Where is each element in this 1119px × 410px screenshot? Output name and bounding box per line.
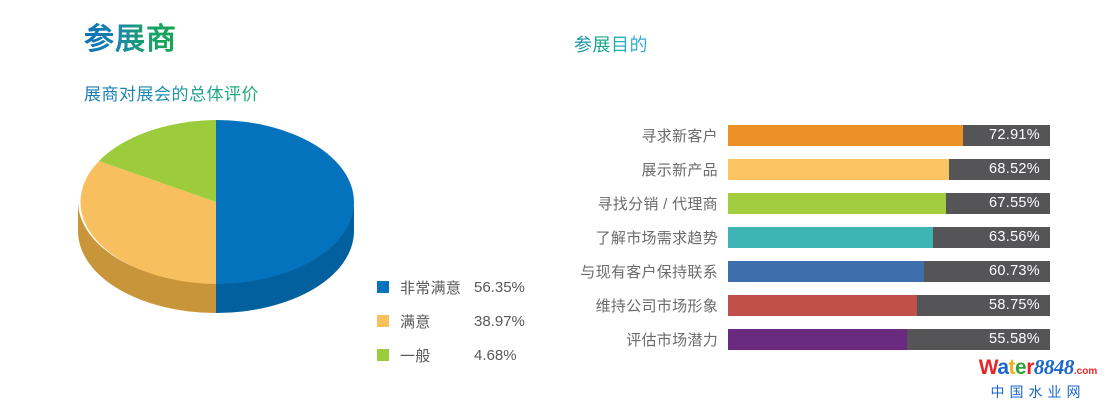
bar-track: 72.91% xyxy=(728,125,1050,146)
bar-track: 55.58% xyxy=(728,329,1050,350)
bar-row: 寻求新客户 72.91% xyxy=(560,118,1050,152)
next-section-title: 参观者 xyxy=(84,402,177,410)
bar-chart-title: 参展目的 xyxy=(574,31,648,57)
wm-letter: e xyxy=(1015,356,1026,379)
pie-chart xyxy=(72,120,372,335)
report-page: 参展商 展商对展会的总体评价 xyxy=(0,0,1119,410)
legend-swatch-icon xyxy=(377,349,389,361)
bar-fill xyxy=(728,125,963,146)
legend-swatch-icon xyxy=(377,315,389,327)
legend-label: 满意 xyxy=(400,311,474,332)
bar-value-label: 55.58% xyxy=(989,329,1040,350)
bar-track: 60.73% xyxy=(728,261,1050,282)
bar-category-label: 展示新产品 xyxy=(560,159,728,180)
pie-chart-title: 展商对展会的总体评价 xyxy=(84,80,259,105)
bar-track: 63.56% xyxy=(728,227,1050,248)
bar-fill xyxy=(728,329,907,350)
wm-letter: W xyxy=(979,356,998,379)
bar-value-label: 60.73% xyxy=(989,261,1040,282)
bar-category-label: 寻求新客户 xyxy=(560,125,728,146)
watermark-subtitle: 中国水业网 xyxy=(958,383,1118,402)
legend-label: 一般 xyxy=(400,345,474,366)
pie-chart-svg xyxy=(72,120,372,335)
legend-swatch-icon xyxy=(377,281,389,293)
pie-legend: 非常满意 56.35% 满意 38.97% 一般 4.68% xyxy=(377,270,557,372)
bar-value-label: 67.55% xyxy=(989,193,1040,214)
pie-top-face xyxy=(80,120,353,284)
bar-fill xyxy=(728,227,933,248)
legend-value: 4.68% xyxy=(474,347,517,364)
watermark-wordmark: Water8848.com xyxy=(958,356,1118,383)
bar-row: 了解市场需求趋势 63.56% xyxy=(560,220,1050,254)
bar-category-label: 了解市场需求趋势 xyxy=(560,227,728,248)
bar-value-label: 58.75% xyxy=(989,295,1040,316)
legend-value: 38.97% xyxy=(474,313,525,330)
bar-value-label: 72.91% xyxy=(989,125,1040,146)
bar-track: 67.55% xyxy=(728,193,1050,214)
bar-fill xyxy=(728,193,946,214)
legend-value: 56.35% xyxy=(474,279,525,296)
bar-category-label: 寻找分销 / 代理商 xyxy=(560,193,728,214)
bar-row: 维持公司市场形象 58.75% xyxy=(560,288,1050,322)
bar-fill xyxy=(728,295,917,316)
bar-value-label: 68.52% xyxy=(989,159,1040,180)
wm-letter: r xyxy=(1026,356,1034,379)
bar-track: 58.75% xyxy=(728,295,1050,316)
bar-chart: 寻求新客户 72.91% 展示新产品 68.52% 寻找分销 / 代理商 67.… xyxy=(560,118,1050,356)
bar-row: 展示新产品 68.52% xyxy=(560,152,1050,186)
watermark-logo: Water8848.com 中国水业网 xyxy=(958,356,1118,402)
bar-category-label: 评估市场潜力 xyxy=(560,329,728,350)
legend-item-average: 一般 4.68% xyxy=(377,338,557,372)
page-title: 参展商 xyxy=(84,14,177,58)
bar-fill xyxy=(728,159,949,180)
bar-row: 评估市场潜力 55.58% xyxy=(560,322,1050,356)
bar-category-label: 与现有客户保持联系 xyxy=(560,261,728,282)
legend-item-very-satisfied: 非常满意 56.35% xyxy=(377,270,557,304)
bar-category-label: 维持公司市场形象 xyxy=(560,295,728,316)
bar-track: 68.52% xyxy=(728,159,1050,180)
legend-label: 非常满意 xyxy=(400,277,474,298)
bar-fill xyxy=(728,261,924,282)
bar-row: 寻找分销 / 代理商 67.55% xyxy=(560,186,1050,220)
bar-row: 与现有客户保持联系 60.73% xyxy=(560,254,1050,288)
wm-domain: .com xyxy=(1074,366,1097,377)
legend-item-satisfied: 满意 38.97% xyxy=(377,304,557,338)
wm-letter: a xyxy=(997,356,1008,379)
wm-number: 8848 xyxy=(1034,355,1074,379)
bar-value-label: 63.56% xyxy=(989,227,1040,248)
